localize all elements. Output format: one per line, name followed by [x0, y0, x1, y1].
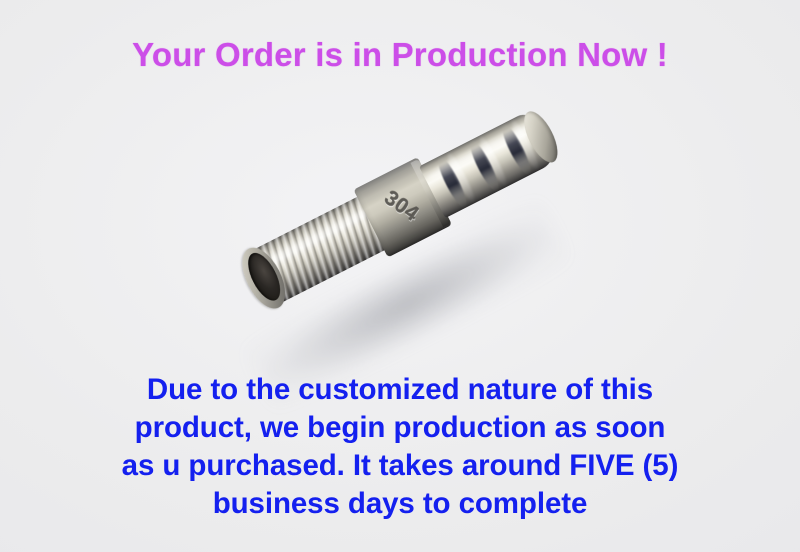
notice-line-3: as u purchased. It takes around FIVE (5)	[0, 447, 800, 485]
notice-line-4: business days to complete	[0, 485, 800, 523]
headline-text: Your Order is in Production Now !	[0, 36, 800, 74]
notice-line-2: product, we begin production as soon	[0, 409, 800, 447]
promo-banner: Your Order is in Production Now ! 304	[0, 0, 800, 552]
production-notice-text: Due to the customized nature of this pro…	[0, 371, 800, 523]
notice-line-1: Due to the customized nature of this	[0, 371, 800, 409]
product-image-hose-barb-fitting: 304	[228, 150, 588, 365]
